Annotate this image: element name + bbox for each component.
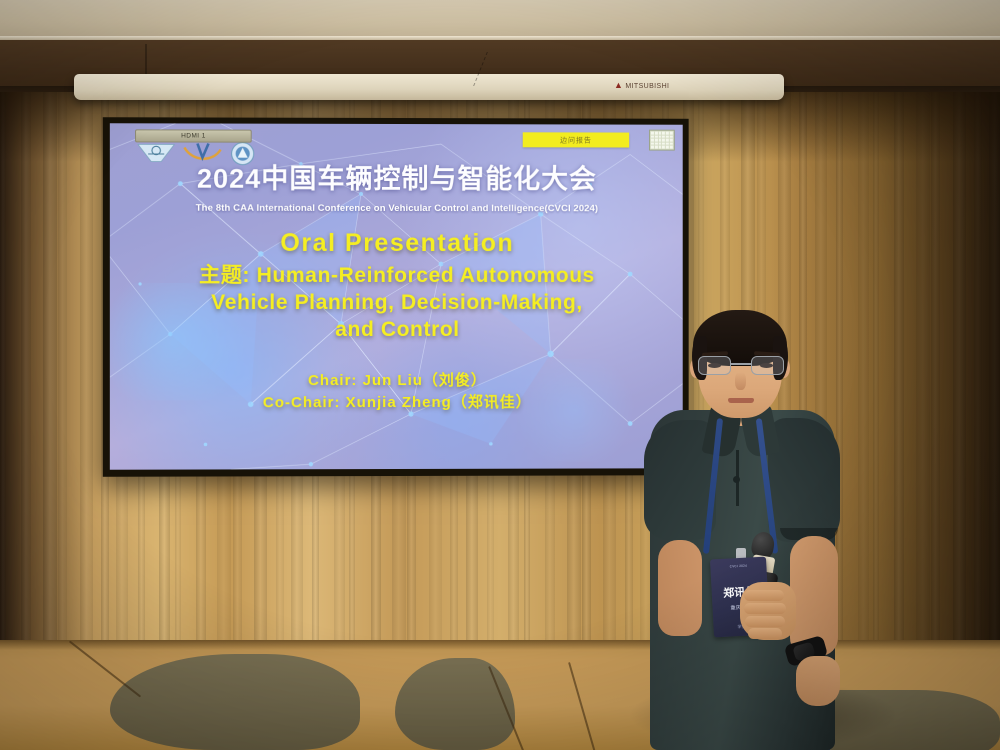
association-shield-logo-icon — [230, 142, 256, 166]
badge-header: CVCI 2024 — [710, 563, 766, 570]
carpet-pattern-shape — [395, 658, 515, 750]
slide-content: 2024中国车辆控制与智能化大会 The 8th CAA Internation… — [110, 163, 683, 415]
hand-lower — [796, 656, 840, 706]
presenter: CVCI 2024 郑讯佳 重庆大学 学生 — [640, 300, 890, 750]
slide-english-subtitle: The 8th CAA International Conference on … — [110, 203, 683, 215]
screen-brand-label: ▲MITSUBISHI — [614, 80, 669, 90]
slide-topic: 主题: Human-Reinforced Autonomous Vehicle … — [110, 263, 683, 344]
slide-chair: Chair: Jun Liu（刘俊） — [110, 369, 683, 392]
finger — [744, 590, 784, 601]
finger — [744, 603, 786, 614]
arm-left — [658, 540, 702, 636]
projector-screen-housing: ▲MITSUBISHI — [74, 74, 784, 100]
grid-icon — [649, 130, 675, 151]
osd-label: HDMI 1 — [181, 132, 206, 139]
slide-chairs: Chair: Jun Liu（刘俊） Co-Chair: Xunjia Zhen… — [110, 369, 683, 415]
shoulder-right — [768, 418, 840, 542]
mitsubishi-logo-icon: ▲ — [614, 80, 623, 90]
ceiling — [0, 0, 1000, 40]
slide-co-chair: Co-Chair: Xunjia Zheng（郑讯佳） — [110, 392, 683, 415]
slide-topic-line-1: 主题: Human-Reinforced Autonomous — [110, 263, 683, 290]
carpet-pattern-shape — [110, 654, 360, 750]
slide-badge-label: 边问报告 — [560, 135, 592, 145]
finger — [745, 616, 785, 627]
carpet-pattern-line — [568, 662, 603, 750]
slide-topic-line-3: and Control — [110, 317, 683, 344]
slide-topic-line-2: Vehicle Planning, Decision-Making, — [110, 290, 683, 317]
slide-yellow-badge: 边问报告 — [523, 132, 629, 147]
polo-button — [733, 476, 740, 483]
mouth — [728, 398, 754, 403]
projection-screen-bezel: HDMI 1 边问报告 2024中国车辆控制与智能化大会 The 8th CAA… — [103, 117, 689, 477]
projection-screen: HDMI 1 边问报告 2024中国车辆控制与智能化大会 The 8th CAA… — [110, 123, 683, 469]
conference-emblem-logo-icon — [137, 141, 175, 163]
nose — [735, 372, 746, 390]
slide-session-type: Oral Presentation — [110, 229, 683, 258]
finger — [748, 628, 782, 639]
cvci-swoosh-logo-icon — [182, 142, 222, 164]
slide-logos — [137, 141, 278, 165]
conference-room-photo: (function(){ var host=document.currentSc… — [0, 0, 1000, 750]
projector-osd-hdmi-bar: HDMI 1 — [135, 129, 252, 142]
slide-chinese-title: 2024中国车辆控制与智能化大会 — [110, 163, 683, 195]
